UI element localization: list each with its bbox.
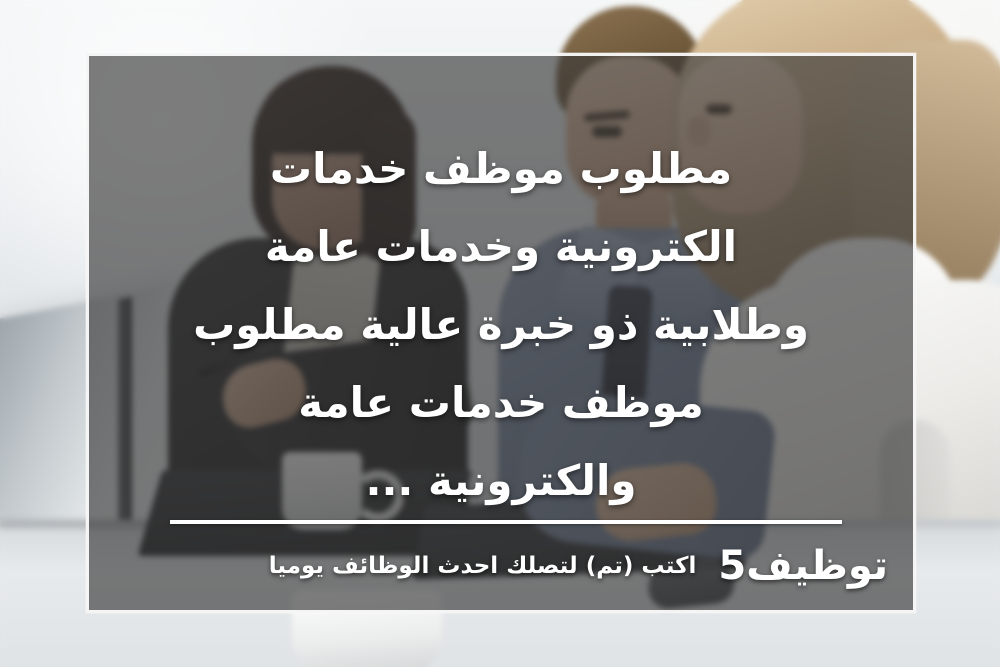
brand-name-label: توظيف	[746, 546, 888, 586]
headline-line-2: الكترونية وخدمات عامة	[86, 208, 916, 286]
brand-logo: توظيف5	[718, 546, 888, 586]
headline-line-5: والكترونية ...	[86, 442, 916, 520]
brand-number-label: 5	[718, 546, 746, 586]
tagline: اكتب (تم) لتصلك احدث الوظائف يوميا	[269, 555, 697, 578]
headline: مطلوب موظف خدمات الكترونية وخدمات عامة و…	[86, 130, 916, 520]
job-poster: مطلوب موظف خدمات الكترونية وخدمات عامة و…	[0, 0, 1000, 667]
footer: توظيف5 اكتب (تم) لتصلك احدث الوظائف يومي…	[96, 536, 906, 596]
headline-line-3: وطلابية ذو خبرة عالية مطلوب	[86, 286, 916, 364]
headline-line-4: موظف خدمات عامة	[86, 364, 916, 442]
headline-line-1: مطلوب موظف خدمات	[86, 130, 916, 208]
divider-rule	[170, 520, 842, 524]
